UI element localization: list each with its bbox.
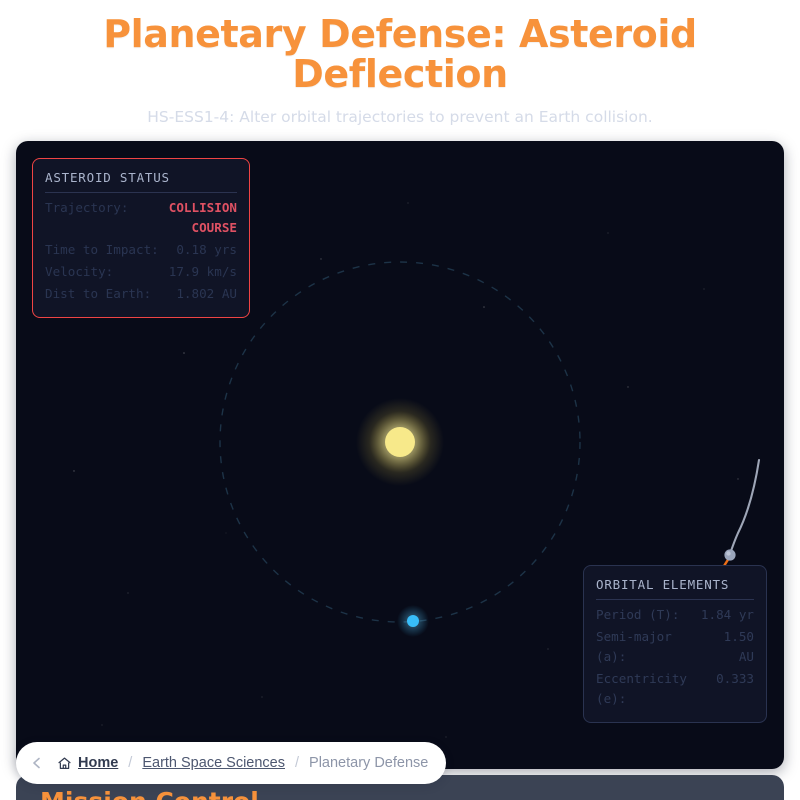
asteroid-status-panel: ASTEROID STATUS Trajectory: COLLISION CO…	[32, 158, 250, 318]
orbital-elements-title: ORBITAL ELEMENTS	[596, 577, 754, 600]
page-title: Planetary Defense: Asteroid Deflection	[60, 14, 740, 94]
orbital-row-semi-major: Semi-major (a): 1.50 AU	[596, 626, 754, 668]
breadcrumb-separator-2: /	[294, 755, 300, 771]
status-row-velocity: Velocity: 17.9 km/s	[45, 261, 237, 283]
status-key-velocity: Velocity:	[45, 262, 113, 282]
orbital-row-period: Period (T): 1.84 yr	[596, 604, 754, 626]
chevron-left-icon[interactable]	[26, 752, 48, 774]
status-row-time-to-impact: Time to Impact: 0.18 yrs	[45, 239, 237, 261]
page-subtitle: HS-ESS1-4: Alter orbital trajectories to…	[60, 108, 740, 127]
home-icon	[57, 756, 72, 771]
status-key-time-to-impact: Time to Impact:	[45, 240, 159, 260]
orbital-key-semi-major: Semi-major (a):	[596, 627, 700, 667]
breadcrumb: Home / Earth Space Sciences / Planetary …	[16, 742, 446, 784]
orbital-value-eccentricity: 0.333	[716, 669, 754, 689]
breadcrumb-separator-1: /	[127, 755, 133, 771]
orbital-value-period: 1.84 yr	[701, 605, 754, 625]
mission-control-title: Mission Control	[40, 789, 760, 800]
asteroid-trajectory	[730, 460, 759, 554]
status-row-trajectory: Trajectory: COLLISION COURSE	[45, 197, 237, 239]
status-value-dist-to-earth: 1.802 AU	[176, 284, 237, 304]
orbital-value-semi-major: 1.50 AU	[706, 627, 754, 667]
orbital-key-period: Period (T):	[596, 605, 679, 625]
page-root: Planetary Defense: Asteroid Deflection H…	[0, 0, 800, 800]
orbit-simulation-canvas[interactable]: ASTEROID STATUS Trajectory: COLLISION CO…	[16, 141, 784, 769]
breadcrumb-item-earth-space-sciences[interactable]: Earth Space Sciences	[142, 755, 285, 771]
asteroid-body	[724, 549, 735, 560]
asteroid-status-title: ASTEROID STATUS	[45, 170, 237, 193]
orbital-elements-panel: ORBITAL ELEMENTS Period (T): 1.84 yr Sem…	[583, 565, 767, 723]
status-value-velocity: 17.9 km/s	[169, 262, 237, 282]
status-row-dist-to-earth: Dist to Earth: 1.802 AU	[45, 283, 237, 305]
status-value-time-to-impact: 0.18 yrs	[176, 240, 237, 260]
asteroid-trajectory-path	[725, 460, 759, 557]
breadcrumb-item-home[interactable]: Home	[57, 755, 118, 771]
status-key-trajectory: Trajectory:	[45, 198, 128, 218]
orbital-key-eccentricity: Eccentricity (e):	[596, 669, 710, 709]
breadcrumb-home-label: Home	[78, 755, 118, 771]
page-header: Planetary Defense: Asteroid Deflection H…	[0, 0, 800, 127]
sun-body	[356, 398, 444, 486]
earth-body	[397, 605, 429, 637]
orbital-row-eccentricity: Eccentricity (e): 0.333	[596, 668, 754, 710]
status-key-dist-to-earth: Dist to Earth:	[45, 284, 151, 304]
status-value-trajectory: COLLISION COURSE	[134, 198, 237, 238]
breadcrumb-item-planetary-defense: Planetary Defense	[309, 755, 428, 771]
